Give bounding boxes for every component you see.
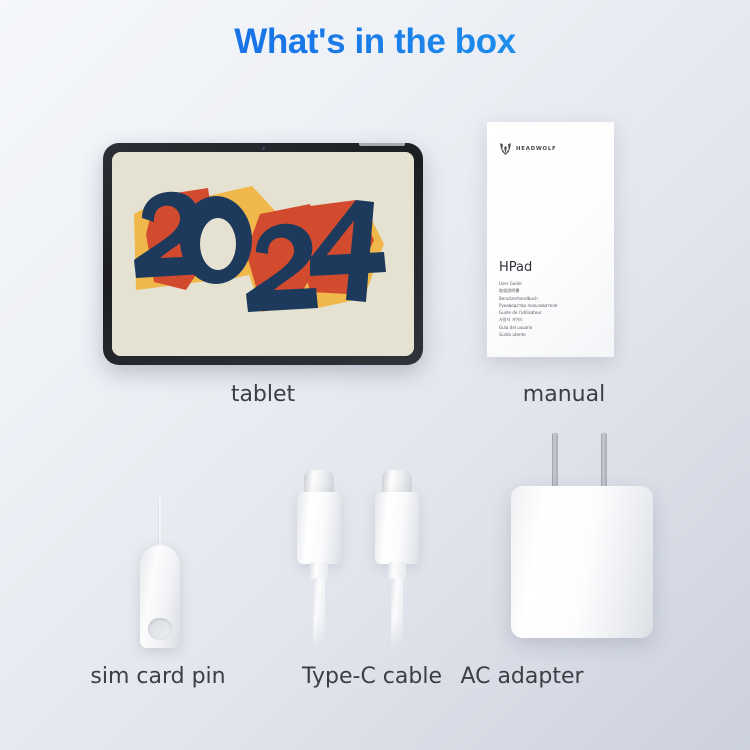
ac-adapter-product-image	[508, 430, 656, 648]
manual-product-image: HEADWOLF HPad User Guide 取扱説明書 Benutzerh…	[487, 122, 614, 357]
sim-pin-hole	[148, 618, 172, 640]
manual-language-item: Guide de l'utilisateur	[499, 309, 599, 316]
page-title: What's in the box	[0, 22, 750, 62]
manual-language-list: User Guide 取扱説明書 Benutzerhandbuch Руково…	[499, 280, 599, 338]
cable-wire	[391, 578, 403, 650]
manual-language-item: Benutzerhandbuch	[499, 295, 599, 302]
manual-language-item: Guida utente	[499, 331, 599, 338]
manual-language-item: 取扱説明書	[499, 287, 599, 294]
tablet-screen	[112, 152, 414, 356]
brand-name: HEADWOLF	[516, 146, 557, 152]
manual-language-item: Руководство пользователя	[499, 302, 599, 309]
connector-housing	[297, 492, 341, 564]
manual-product-name: HPad	[499, 260, 532, 275]
adapter-body	[511, 486, 653, 638]
headwolf-logo: HEADWOLF	[499, 143, 557, 155]
adapter-prong	[552, 433, 558, 490]
sim-pin-needle	[158, 496, 161, 552]
camera-icon	[262, 147, 265, 150]
adapter-prong	[601, 433, 607, 490]
manual-caption: manual	[404, 382, 724, 407]
ac-adapter-caption: AC adapter	[362, 664, 682, 689]
sim-pin-body	[140, 545, 180, 648]
manual-language-item: User Guide	[499, 280, 599, 287]
cable-wire	[313, 578, 325, 650]
tablet-product-image	[103, 143, 423, 365]
wallpaper-2024-artwork	[112, 152, 414, 356]
tablet-antenna-strip	[359, 143, 405, 146]
tablet-frame	[103, 143, 423, 365]
manual-cover: HEADWOLF HPad User Guide 取扱説明書 Benutzerh…	[487, 122, 614, 357]
tablet-caption: tablet	[103, 382, 423, 407]
connector-housing	[375, 492, 419, 564]
manual-language-item: 사용자 가이드	[499, 316, 599, 323]
type-c-cable-product-image	[295, 470, 425, 650]
manual-language-item: Guía del usuario	[499, 324, 599, 331]
sim-card-pin-product-image	[134, 496, 186, 648]
wolf-head-icon	[499, 143, 512, 155]
